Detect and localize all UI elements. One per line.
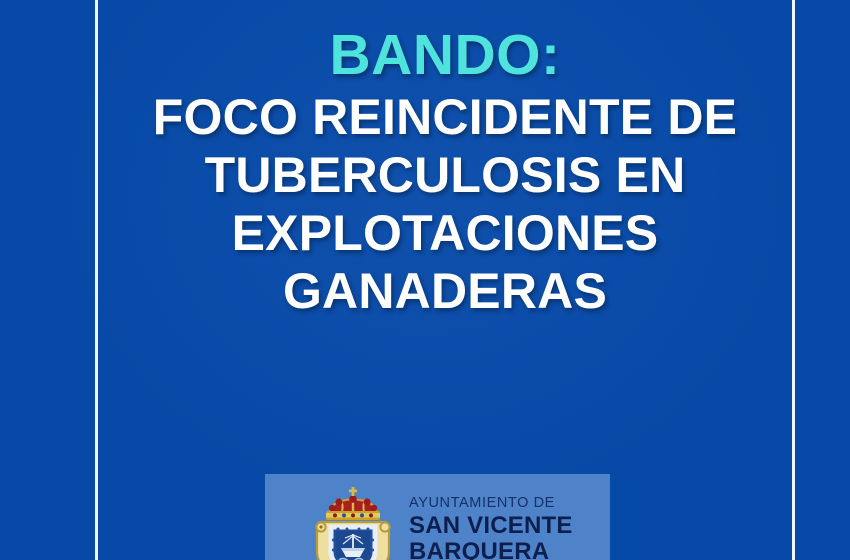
page-kicker: BANDO:: [98, 26, 792, 84]
logo-text-block: AYUNTAMIENTO DE SAN VICENTE BARQUERA: [409, 474, 610, 560]
shield-group: [316, 522, 389, 560]
coat-of-arms-icon: [305, 478, 401, 560]
poster-canvas: BANDO: FOCO REINCIDENTE DE TUBERCULOSIS …: [0, 0, 850, 560]
logo-line-san-vicente: SAN VICENTE: [409, 513, 610, 539]
right-vertical-rule: [792, 0, 795, 560]
page-title: FOCO REINCIDENTE DE TUBERCULOSIS EN EXPL…: [98, 88, 792, 320]
title-line-4: GANADERAS: [98, 262, 792, 320]
headline-block: BANDO: FOCO REINCIDENTE DE TUBERCULOSIS …: [98, 26, 792, 320]
crest-container: [305, 474, 401, 560]
crown-group: [326, 487, 380, 520]
title-line-3: EXPLOTACIONES: [98, 204, 792, 262]
logo-line-ayuntamiento: AYUNTAMIENTO DE: [409, 496, 610, 512]
ayuntamiento-logo-panel: AYUNTAMIENTO DE SAN VICENTE BARQUERA: [265, 474, 610, 560]
title-line-2: TUBERCULOSIS EN: [98, 146, 792, 204]
logo-line-barquera: BARQUERA: [409, 539, 610, 560]
title-line-1: FOCO REINCIDENTE DE: [98, 88, 792, 146]
